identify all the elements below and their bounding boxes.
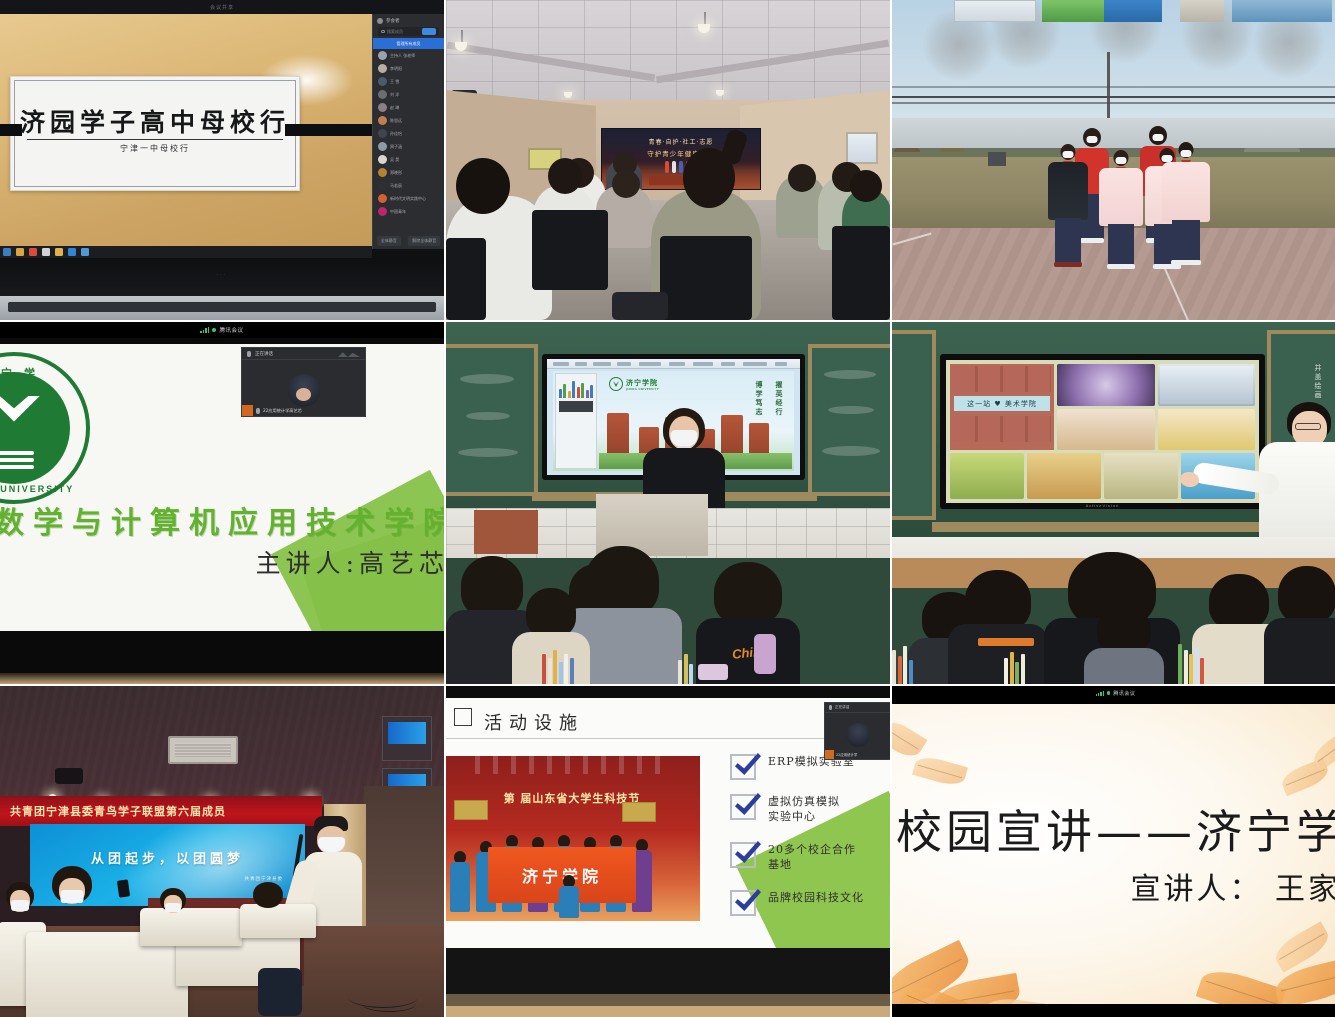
face-mask [1063, 151, 1074, 158]
participant-row[interactable]: 周子涵 [373, 140, 444, 153]
cable [362, 996, 416, 1012]
head [1278, 566, 1335, 624]
book-stack [678, 654, 693, 684]
manage-all-row[interactable]: 管理所有成员 [373, 38, 444, 49]
slide-title: 校园宣讲——济宁学院 [896, 796, 1335, 862]
attendee [248, 882, 288, 926]
participant-row[interactable]: 主持人 张老师 [373, 49, 444, 62]
shopfront [954, 0, 1036, 22]
participant-name: 孙佳怡 [390, 131, 402, 137]
participant-name: 郑晓彤 [390, 170, 402, 176]
chalk-note: 井盖绘画 [1313, 364, 1323, 400]
participant-row[interactable]: 郑晓彤 [373, 166, 444, 179]
monitor-bezel: ··· [0, 258, 444, 296]
checklist-label: 品牌校园科技文化 [768, 890, 864, 905]
checkbox-checked-icon [730, 842, 756, 868]
chalkboard-right [808, 344, 890, 496]
taskbar[interactable] [0, 246, 372, 258]
power-line [892, 96, 1335, 98]
child [1160, 142, 1212, 274]
speaking-status: 正在讲话 [255, 351, 273, 357]
monitor-bezel [0, 673, 444, 684]
participant-name: 周子涵 [390, 144, 402, 150]
avatar [378, 90, 387, 99]
person-icon [377, 18, 383, 24]
os-titlebar: 会议共享 [0, 0, 444, 14]
app-ribbon [547, 359, 800, 369]
participant-video-tile[interactable]: 正在讲话 22应用统计学高艺芯 [241, 347, 366, 417]
chalkboard-left [446, 344, 538, 496]
slide-brand-en: JINING UNIVERSITY [626, 388, 659, 391]
avatar [378, 142, 387, 151]
participant-row[interactable]: 孙佳怡 [373, 127, 444, 140]
participant-row[interactable]: 王 雪 [373, 75, 444, 88]
lamp-stem [461, 30, 463, 42]
audience-head [548, 158, 582, 194]
attendee [46, 866, 98, 928]
meeting-app-name: 腾讯会议 [1113, 690, 1135, 697]
stage-lights [475, 756, 670, 774]
photo-collage: 会议共享 济园学子高中母校行 宁津一中母校行 参会者 搜索成员 管理所有成员 [0, 0, 1335, 1017]
audience-head [850, 170, 882, 202]
artwork-thumbnail [1158, 364, 1256, 406]
logo-name-en: JINING UNIVERSITY [0, 484, 74, 494]
collage-cell-outdoor-group [892, 0, 1335, 320]
slide-thumbnail-panel [555, 373, 597, 469]
body [1264, 618, 1335, 684]
host-badge-icon [242, 405, 253, 416]
collage-cell-title-slide: 腾讯会议 校园宣讲——济宁学院 宣讲人： 王家 [892, 686, 1335, 1017]
figure [665, 161, 669, 173]
signal-icon [200, 327, 209, 333]
chalk-tray [932, 522, 1268, 532]
speaking-status: 正在讲话 [835, 705, 849, 710]
title-slide: 校园宣讲——济宁学院 宣讲人： 王家 [892, 704, 1335, 1004]
collage-cell-meeting-university-slide: 腾讯会议 济宁学院 JINING UNIVERSITY 数学与计算机应用技术学院… [0, 322, 444, 684]
participant-row[interactable]: 中国青年 [373, 205, 444, 218]
monitor-stand [0, 296, 444, 320]
participants-title: 参会者 [373, 14, 444, 26]
checkbox-checked-icon [730, 794, 756, 820]
slide-title: 这一站 ♥ 美术学院 [954, 396, 1050, 411]
edge-icon[interactable] [68, 248, 76, 256]
chalk-mark [828, 406, 874, 414]
book-stack [1178, 644, 1204, 684]
participant-name: 赵 琳 [390, 105, 399, 111]
checklist-item: 20多个校企合作 基地 [730, 842, 856, 872]
meeting-app-name: 腾讯会议 [219, 326, 243, 334]
artwork-thumbnail [1057, 364, 1155, 406]
manage-all-label: 管理所有成员 [397, 41, 421, 47]
participants-sidebar[interactable]: 参会者 搜索成员 管理所有成员 主持人 张老师 李明阳 王 雪 刘 洋 赵 琳 … [372, 14, 444, 249]
projector [55, 768, 83, 784]
participant-nameplate: 22应用统计学 [825, 750, 890, 759]
participant-row[interactable]: 马若辰 [373, 179, 444, 192]
slide-speaker: 主讲人:高艺芯 [256, 544, 444, 580]
slide-motto-right: 博学笃志 [754, 381, 764, 417]
participant-name: 王 雪 [390, 79, 399, 85]
unmute-all-button[interactable]: 解除全体静音 [408, 236, 440, 246]
face-mask [1087, 136, 1098, 143]
microphone-icon [247, 351, 251, 357]
winter-coat [1099, 168, 1143, 226]
avatar [378, 51, 387, 60]
slide-speaker: 宣讲人： 王家 [1130, 864, 1335, 908]
microphone-icon [829, 705, 832, 710]
participant-nameplate: 22应用统计学高艺芯 [242, 405, 365, 416]
slide-subhead: 宁津一中母校行 [11, 143, 299, 154]
winter-coat [1048, 162, 1088, 220]
chair [532, 210, 608, 290]
participant-row[interactable]: 赵 琳 [373, 101, 444, 114]
book-stack [892, 646, 913, 684]
shopfront [1104, 0, 1162, 22]
checkbox-checked-icon [730, 890, 756, 916]
shoes [1107, 264, 1135, 269]
status-dot-icon [212, 328, 216, 332]
face-mask [671, 430, 698, 447]
power-line [892, 102, 1335, 104]
collage-cell-facilities-slide: 活动设施 第 届山东省大学生科技节 济宁学院 [446, 686, 890, 1017]
body [948, 624, 1048, 684]
participant-row[interactable]: 陈思远 [373, 114, 444, 127]
participant-name: 主持人 张老师 [390, 53, 415, 59]
participant-row[interactable]: 吴 昊 [373, 153, 444, 166]
student [948, 570, 1048, 684]
participant-row[interactable]: 刘 洋 [373, 88, 444, 101]
face-mask [11, 900, 29, 911]
avatar [378, 155, 387, 164]
shopfront [1042, 0, 1108, 22]
book-stack [542, 650, 574, 684]
head [1209, 574, 1269, 630]
head [1097, 606, 1151, 654]
pip-statusbar: 正在讲话 [242, 348, 365, 360]
checklist-label: 20多个校企合作 基地 [768, 842, 856, 872]
event-banner: 共青团宁津县委青鸟学子联盟第六届成员 [0, 796, 322, 826]
participant-name: 李明阳 [390, 66, 402, 72]
avatar [378, 168, 387, 177]
slide-motto-left: 擢英经行 [774, 381, 784, 417]
leaf-decoration [912, 753, 968, 788]
meeting-statusbar: 腾讯会议 [0, 322, 444, 338]
browser-icon[interactable] [29, 248, 37, 256]
pip-statusbar: 正在讲话 [825, 703, 890, 713]
student [1084, 606, 1164, 684]
calligraphy-slide: 济园学子高中母校行 宁津一中母校行 [10, 76, 300, 191]
signal-icon [1096, 691, 1104, 696]
avatar [378, 194, 387, 203]
collage-cell-projector-calligraphy: 会议共享 济园学子高中母校行 宁津一中母校行 参会者 搜索成员 管理所有成员 [0, 0, 444, 320]
collage-cell-lecture-hall: 青春·自护·社工·志愿 守护青少年健康成长 [446, 0, 890, 320]
avatar [378, 116, 387, 125]
logo-name-cjk: 济宁学院 [0, 365, 50, 397]
winter-coat [1162, 162, 1210, 222]
meeting-statusbar: 腾讯会议 [892, 686, 1335, 700]
brick-strip [953, 416, 1051, 442]
face-mask [165, 903, 181, 912]
ac-vent [168, 736, 238, 764]
lamp-stem [704, 12, 706, 24]
audience-head [612, 170, 640, 198]
monitor-brand: ··· [0, 272, 444, 278]
university-logo [609, 377, 623, 391]
folder-icon[interactable] [55, 248, 63, 256]
participant-name: 22应用统计学 [836, 752, 857, 757]
search-placeholder: 搜索成员 [387, 29, 403, 35]
leaf-decoration [1196, 964, 1286, 1004]
desk-label [978, 638, 1034, 646]
chalkboard-left [892, 330, 936, 520]
team-photo: 第 届山东省大学生科技节 济宁学院 [446, 756, 700, 921]
slide-rule [27, 139, 283, 140]
avatar [378, 64, 387, 73]
book-stack [1004, 652, 1025, 684]
shopfront [1232, 0, 1332, 22]
banner-text: 共青团宁津县委青鸟学子联盟第六届成员 [10, 803, 226, 819]
side-cabinet [474, 510, 538, 554]
figure [672, 161, 676, 173]
university-logo: 济宁学院 JINING UNIVERSITY [0, 352, 90, 504]
shoes [1171, 260, 1201, 265]
head [965, 570, 1031, 632]
checkbox-checked-icon [730, 754, 756, 780]
collage-cell-classroom-smartboard: 济宁学院JINING UNIVERSITY 博学笃志 擢英经行 [446, 322, 890, 684]
status-dot-icon [1107, 691, 1111, 695]
chalk-mark [824, 370, 876, 379]
face-mask [61, 890, 84, 903]
screen-mask-right [285, 124, 375, 136]
search-icon [381, 30, 385, 34]
avatar [378, 103, 387, 112]
head [526, 588, 576, 638]
chalk-mark [460, 374, 514, 384]
avatar [378, 181, 387, 190]
invite-button[interactable] [422, 28, 436, 35]
chair [832, 226, 890, 320]
window [846, 132, 878, 164]
trash-bin [988, 152, 1006, 166]
shopfront [1180, 0, 1224, 22]
avatar [378, 129, 387, 138]
attendee [156, 888, 190, 928]
backpack [612, 292, 668, 320]
checklist-label: 虚拟仿真模拟 实验中心 [768, 794, 840, 824]
food-photo [1027, 453, 1101, 499]
leaf-decoration [892, 716, 927, 762]
checklist-item: 虚拟仿真模拟 实验中心 [730, 794, 840, 824]
face-mask [1116, 157, 1127, 164]
child [1047, 144, 1089, 274]
host-badge-icon [825, 750, 834, 759]
shared-slide: 济宁学院 JINING UNIVERSITY 数学与计算机应用技术学院 主讲人:… [0, 344, 444, 631]
participant-name: 吴 昊 [390, 157, 399, 163]
collage-cell-conference-hall: 共青团宁津县委青鸟学子联盟第六届成员 从团起步，以团圆梦 共青团宁津县委 [0, 686, 444, 1017]
projector-screen: 济园学子高中母校行 宁津一中母校行 [0, 14, 372, 249]
avatar [378, 207, 387, 216]
microphone-icon [256, 408, 260, 414]
face-mask [1181, 150, 1192, 157]
legs [1055, 218, 1081, 264]
team-member-kneeling [556, 875, 582, 919]
participant-name: 陈思远 [390, 118, 402, 124]
screen-mask-left [0, 124, 22, 136]
sidebar-footer: 全体静音 解除全体静音 [373, 236, 444, 246]
photo [1160, 366, 1254, 404]
chair [446, 238, 486, 320]
participant-name: 新时代文明实践中心 [390, 196, 426, 202]
meeting-icon[interactable] [81, 248, 89, 256]
participant-name: 中国青年 [390, 209, 406, 215]
participant-name: 马若辰 [390, 183, 402, 189]
audience-head [788, 164, 816, 192]
slide-title-block: 这一站 ♥ 美术学院 [950, 364, 1054, 450]
board-brand: ActiveVision [940, 503, 1265, 508]
shoes [1054, 262, 1082, 267]
camera-icon[interactable] [42, 248, 50, 256]
brick-strip [953, 366, 1051, 392]
legs [1108, 224, 1134, 266]
logo-bars [0, 451, 34, 472]
participant-row[interactable]: 新时代文明实践中心 [373, 192, 444, 205]
cup [698, 664, 728, 680]
monitor-bezel [892, 1004, 1335, 1017]
slide-college-name: 数学与计算机应用技术学院 [0, 498, 444, 542]
search-input[interactable]: 搜索成员 [378, 27, 439, 36]
student [1264, 566, 1335, 684]
chalk-mark [466, 412, 510, 420]
artwork-thumbnail [1057, 409, 1155, 451]
os-titlebar-label: 会议共享 [210, 4, 234, 11]
award-plaque [454, 800, 488, 820]
smartphone [117, 879, 130, 897]
backpack [258, 968, 302, 1016]
award-plaque [622, 802, 656, 822]
audio-wave-icon [338, 351, 360, 357]
chalk-mark [458, 448, 518, 457]
participant-row[interactable]: 李明阳 [373, 62, 444, 75]
screen-title: 从团起步，以团圆梦 [30, 848, 305, 867]
food-photo [950, 453, 1024, 499]
slide-title: 活动设施 [484, 709, 584, 735]
mute-all-button[interactable]: 全体静音 [377, 236, 401, 246]
participant-name: 22应用统计学高艺芯 [263, 408, 302, 414]
thumbnail-block [559, 401, 593, 412]
title-bullet-icon [454, 708, 472, 726]
files-icon[interactable] [16, 248, 24, 256]
chalk-mark [822, 446, 880, 456]
legs [1172, 220, 1200, 262]
monitor-bezel [446, 948, 890, 1017]
figure [679, 161, 683, 173]
wall-display [382, 716, 432, 761]
glasses-icon [1295, 423, 1321, 430]
power-line [892, 86, 1335, 88]
water-bottle [754, 634, 776, 674]
audience-head [456, 158, 510, 214]
collage-cell-classroom-pointing: 这一站 ♥ 美术学院 ActiveVision 井盖绘画 [892, 322, 1335, 684]
participant-avatar [287, 374, 320, 407]
child [1098, 150, 1144, 276]
chair [660, 236, 752, 320]
face-mask [1153, 134, 1164, 141]
attendee [2, 882, 38, 928]
checklist-item: 品牌校园科技文化 [730, 890, 864, 916]
slide-brand: 济宁学院JINING UNIVERSITY [626, 378, 659, 391]
head [253, 882, 283, 908]
team-member [448, 851, 472, 913]
body [1084, 648, 1164, 684]
food-photo [1104, 453, 1178, 499]
participant-video-tile[interactable]: 正在讲话 22应用统计学 [824, 702, 890, 760]
slide-headline: 济园学子高中母校行 [11, 103, 299, 139]
head [714, 562, 782, 626]
start-icon[interactable] [3, 248, 11, 256]
face-mask [318, 837, 345, 852]
participant-avatar [846, 723, 870, 747]
avatar [378, 77, 387, 86]
participant-name: 刘 洋 [390, 92, 399, 98]
mini-bar-chart [559, 378, 593, 398]
